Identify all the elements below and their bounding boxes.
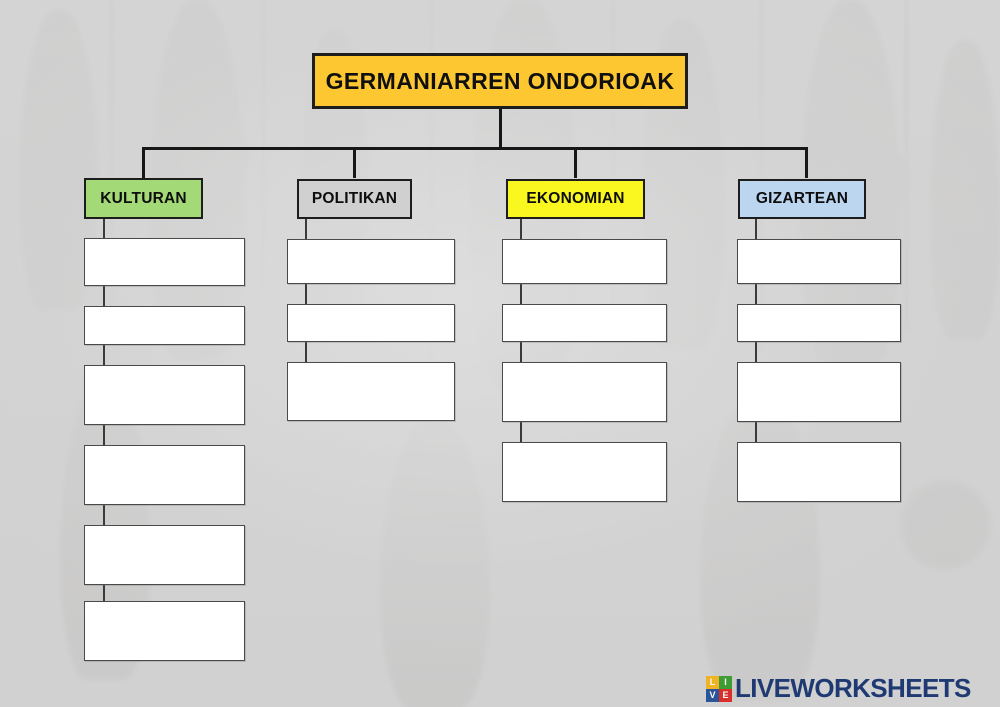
- connector-gizartean-4: [755, 422, 757, 444]
- connector-politikan-2: [305, 284, 307, 306]
- liveworksheets-badge-icon: L I V E: [706, 676, 732, 702]
- connector-drop-politikan: [353, 147, 356, 178]
- answer-box-ekonomian-1[interactable]: [502, 239, 667, 284]
- connector-kulturan-3: [103, 345, 105, 367]
- connector-gizartean-3: [755, 342, 757, 364]
- connector-kulturan-2: [103, 286, 105, 308]
- connector-politikan-1: [305, 219, 307, 240]
- connector-kulturan-5: [103, 505, 105, 527]
- connector-ekonomian-3: [520, 342, 522, 364]
- answer-box-kulturan-1[interactable]: [84, 238, 245, 286]
- badge-letter-i: I: [719, 676, 732, 689]
- connector-ekonomian-4: [520, 422, 522, 444]
- category-box-ekonomian: EKONOMIAN: [506, 179, 645, 219]
- connector-horizontal-bar: [142, 147, 807, 150]
- connector-drop-kulturan: [142, 147, 145, 178]
- badge-letter-e: E: [719, 689, 732, 702]
- diagram-root-title: GERMANIARREN ONDORIOAK: [312, 53, 688, 109]
- connector-drop-ekonomian: [574, 147, 577, 178]
- answer-box-ekonomian-3[interactable]: [502, 362, 667, 422]
- badge-letter-v: V: [706, 689, 719, 702]
- connector-gizartean-2: [755, 284, 757, 306]
- answer-box-ekonomian-2[interactable]: [502, 304, 667, 342]
- connector-ekonomian-2: [520, 284, 522, 306]
- connector-drop-gizartean: [805, 147, 808, 178]
- answer-box-gizartean-3[interactable]: [737, 362, 901, 422]
- liveworksheets-wordmark: LIVEWORKSHEETS: [735, 673, 971, 704]
- liveworksheets-logo: L I V E LIVEWORKSHEETS: [706, 673, 971, 704]
- category-box-gizartean: GIZARTEAN: [738, 179, 866, 219]
- answer-box-kulturan-3[interactable]: [84, 365, 245, 425]
- category-box-kulturan: KULTURAN: [84, 178, 203, 219]
- connector-kulturan-4: [103, 425, 105, 447]
- worksheet-canvas: GERMANIARREN ONDORIOAK KULTURAN POLITIKA…: [0, 0, 1000, 707]
- answer-box-kulturan-6[interactable]: [84, 601, 245, 661]
- connector-kulturan-1: [103, 219, 105, 240]
- connector-gizartean-1: [755, 219, 757, 240]
- answer-box-ekonomian-4[interactable]: [502, 442, 667, 502]
- answer-box-kulturan-2[interactable]: [84, 306, 245, 345]
- answer-box-politikan-3[interactable]: [287, 362, 455, 421]
- connector-politikan-3: [305, 342, 307, 364]
- answer-box-gizartean-1[interactable]: [737, 239, 901, 284]
- answer-box-kulturan-5[interactable]: [84, 525, 245, 585]
- answer-box-politikan-1[interactable]: [287, 239, 455, 284]
- answer-box-gizartean-4[interactable]: [737, 442, 901, 502]
- answer-box-kulturan-4[interactable]: [84, 445, 245, 505]
- answer-box-gizartean-2[interactable]: [737, 304, 901, 342]
- connector-root-stem: [499, 109, 502, 149]
- badge-letter-l: L: [706, 676, 719, 689]
- connector-ekonomian-1: [520, 219, 522, 240]
- category-box-politikan: POLITIKAN: [297, 179, 412, 219]
- answer-box-politikan-2[interactable]: [287, 304, 455, 342]
